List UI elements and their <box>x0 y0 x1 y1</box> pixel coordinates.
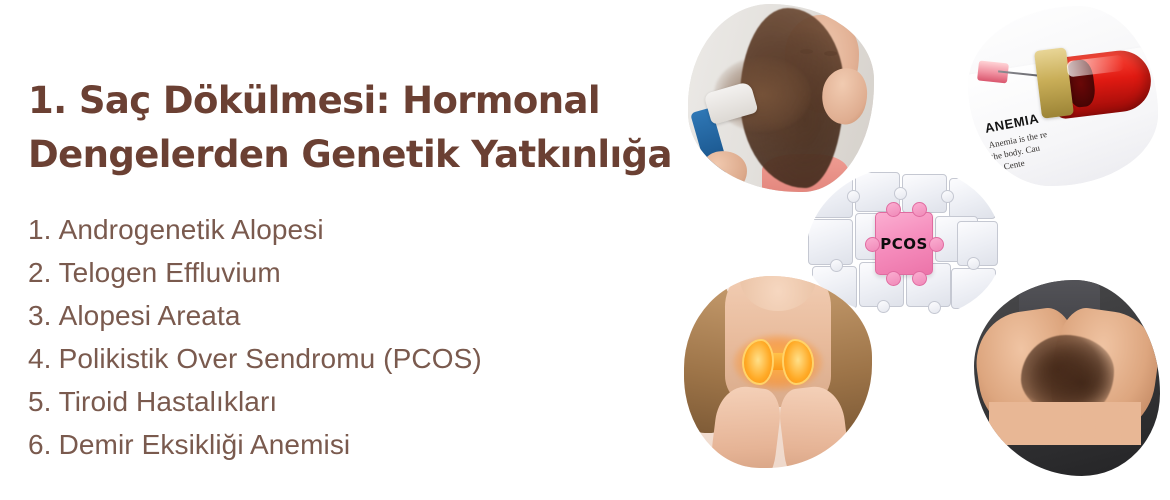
list-item-number: 2. <box>28 251 52 294</box>
pcos-label-text: PCOS <box>875 212 934 276</box>
list-item: 2. Telogen Effluvium <box>28 251 668 294</box>
list-item-label: Alopesi Areata <box>59 294 241 337</box>
list-item-number: 1. <box>28 208 52 251</box>
list-item: 3. Alopesi Areata <box>28 294 668 337</box>
list-item-number: 4. <box>28 337 52 380</box>
slide-title: 1. Saç Dökülmesi: Hormonal Dengelerden G… <box>28 74 678 181</box>
thyroid-gland-neck-photo <box>684 276 872 468</box>
slide-root: 1. Saç Dökülmesi: Hormonal Dengelerden G… <box>0 0 1170 500</box>
list-item: 4. Polikistik Over Sendromu (PCOS) <box>28 337 668 380</box>
hands-holding-fallen-hair-photo <box>974 280 1160 476</box>
list-item-label: Demir Eksikliği Anemisi <box>59 423 351 466</box>
list-item-label: Telogen Effluvium <box>59 251 281 294</box>
list-item-number: 6. <box>28 423 52 466</box>
image-cluster: ANEMIA Anemia is the re the body. Cau he… <box>680 0 1170 500</box>
list-item-label: Androgenetik Alopesi <box>59 208 324 251</box>
list-item-label: Tiroid Hastalıkları <box>59 380 278 423</box>
list-item-label: Polikistik Over Sendromu (PCOS) <box>59 337 482 380</box>
anemia-blood-vial-photo: ANEMIA Anemia is the re the body. Cau he… <box>968 6 1158 186</box>
list-item: 5. Tiroid Hastalıkları <box>28 380 668 423</box>
text-column: 1. Saç Dökülmesi: Hormonal Dengelerden G… <box>0 0 690 500</box>
condition-list: 1. Androgenetik Alopesi 2. Telogen Efflu… <box>28 208 668 466</box>
list-item-number: 5. <box>28 380 52 423</box>
woman-brushing-hair-loss-photo <box>688 4 874 192</box>
list-item: 6. Demir Eksikliği Anemisi <box>28 423 668 466</box>
list-item: 1. Androgenetik Alopesi <box>28 208 668 251</box>
list-item-number: 3. <box>28 294 52 337</box>
